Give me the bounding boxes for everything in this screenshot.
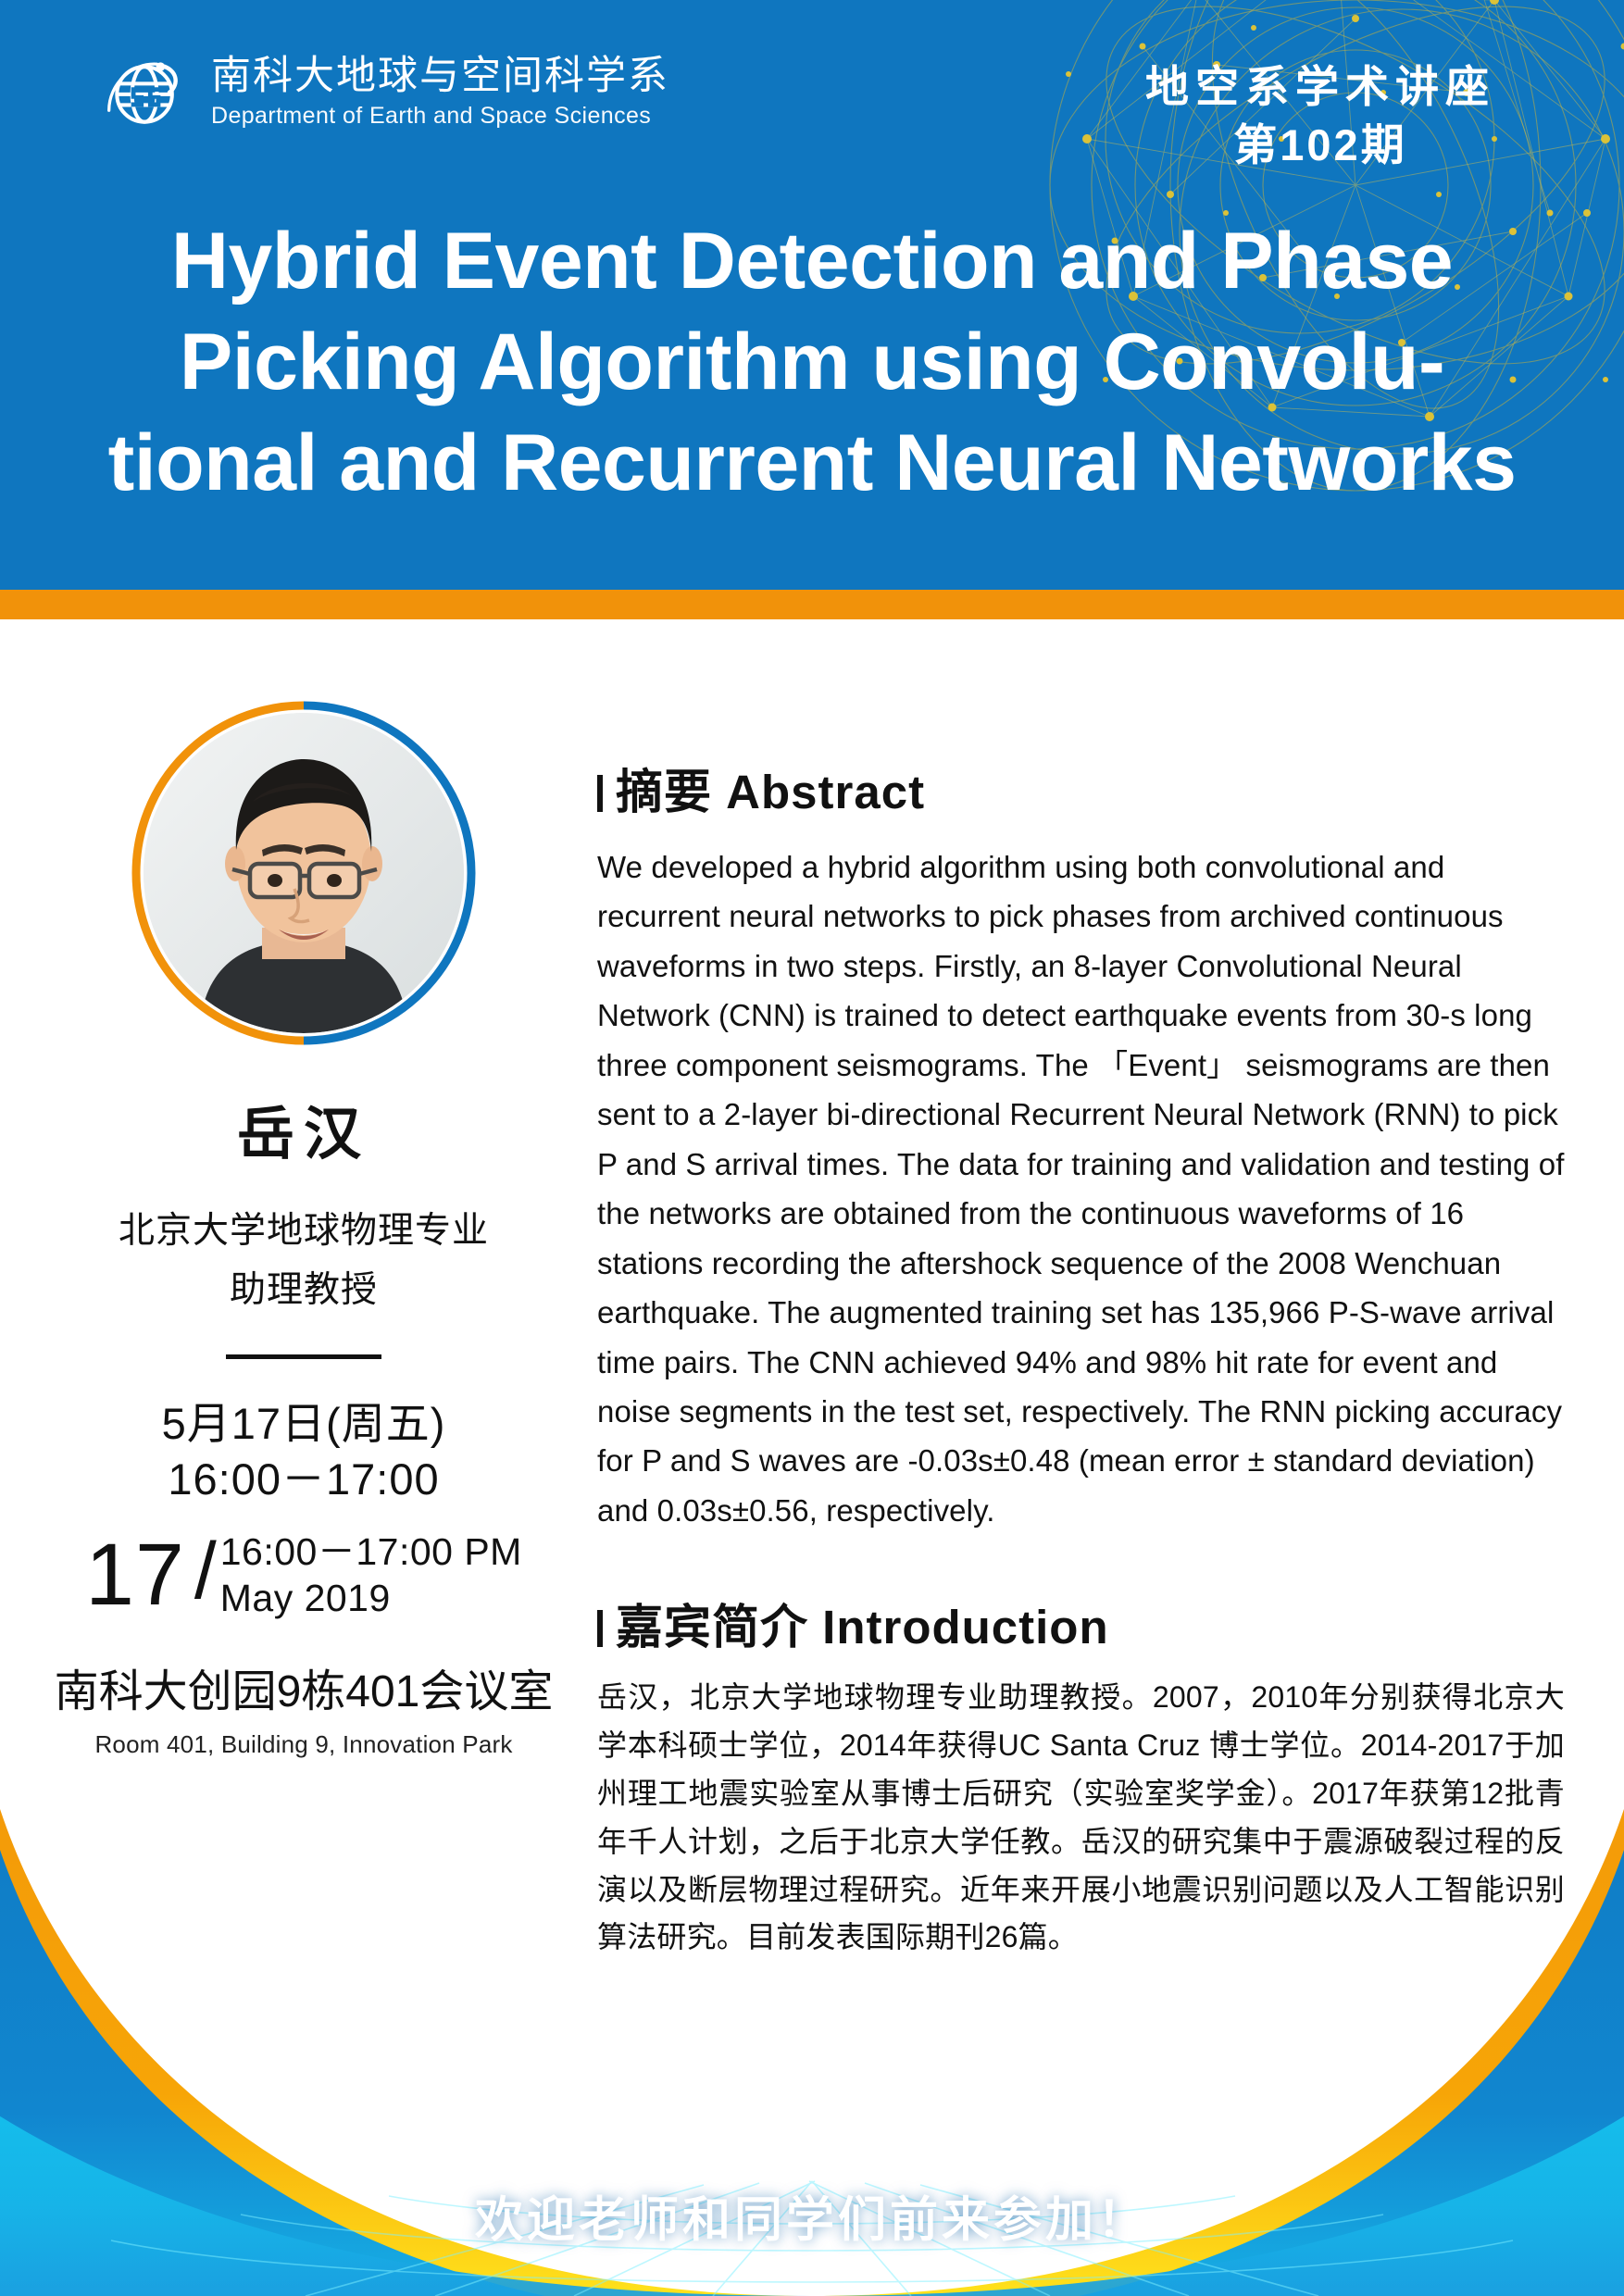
title-line-3: tional and Recurrent Neural Networks [37,413,1587,514]
event-venue-en: Room 401, Building 9, Innovation Park [44,1730,563,1759]
heading-marker-bar-icon [597,1610,603,1647]
speaker-photo-illustration [144,713,464,1033]
avatar [129,698,479,1048]
event-date-en: 17 / 16:00－17:00 PM May 2019 [44,1529,563,1621]
welcome-message: 欢迎老师和同学们前来参加！ [0,2180,1624,2250]
date-slash-separator: / [194,1526,217,1617]
introduction-heading-text: 嘉宾简介 Introduction [616,1589,1109,1657]
speaker-affiliation-line-1: 北京大学地球物理专业 [44,1202,563,1261]
introduction-heading: 嘉宾简介 Introduction [597,1589,1565,1657]
speaker-affiliation: 北京大学地球物理专业 助理教授 [44,1202,563,1321]
page-title: Hybrid Event Detection and Phase Picking… [0,211,1624,515]
poster-body: 岳汉 北京大学地球物理专业 助理教授 5月17日(周五) 16:00－17:00… [0,619,1624,2296]
speaker-panel: 岳汉 北京大学地球物理专业 助理教授 5月17日(周五) 16:00－17:00… [44,698,563,1759]
event-date-cn: 5月17日(周五) 16:00－17:00 [44,1396,563,1507]
speaker-affiliation-line-2: 助理教授 [44,1261,563,1320]
section-divider-rule [226,1354,381,1359]
speaker-name: 岳汉 [44,1087,563,1170]
orange-divider-band [0,590,1624,619]
department-logo: 南科大地球与空间科学系 Department of Earth and Spac… [102,48,669,137]
poster-footer: 欢迎老师和同学们前来参加！ [0,2134,1624,2296]
event-date-cn-line-2: 16:00－17:00 [44,1452,563,1507]
event-time-en: 16:00－17:00 PM [220,1529,522,1574]
event-date-cn-line-1: 5月17日(周五) [44,1396,563,1452]
badge-series-name: 地空系学术讲座 [1126,57,1515,116]
event-day-number: 17 [85,1533,185,1616]
globe-ess-logo-icon [102,48,191,137]
heading-marker-bar-icon [597,775,603,812]
content-panel: 摘要 Abstract We developed a hybrid algori… [597,754,1565,1962]
abstract-body-text: We developed a hybrid algorithm using bo… [597,842,1565,1535]
speaker-photo [144,713,464,1033]
poster-header: 南科大地球与空间科学系 Department of Earth and Spac… [0,0,1624,590]
event-month-year-en: May 2019 [220,1575,522,1621]
seminar-poster: 南科大地球与空间科学系 Department of Earth and Spac… [0,0,1624,2296]
introduction-body-text: 岳汉，北京大学地球物理专业助理教授。2007，2010年分别获得北京大学本科硕士… [597,1674,1565,1962]
title-line-1: Hybrid Event Detection and Phase [37,211,1587,312]
abstract-heading-text: 摘要 Abstract [616,754,925,822]
logo-text-en: Department of Earth and Space Sciences [211,102,669,130]
badge-issue-number: 第102期 [1126,116,1515,174]
logo-text-cn: 南科大地球与空间科学系 [211,56,669,98]
lecture-series-badge: 地空系学术讲座 第102期 [1126,57,1515,175]
event-venue-cn: 南科大创园9栋401会议室 [44,1654,563,1719]
abstract-heading: 摘要 Abstract [597,754,1565,822]
title-line-2: Picking Algorithm using Convolu- [37,312,1587,413]
